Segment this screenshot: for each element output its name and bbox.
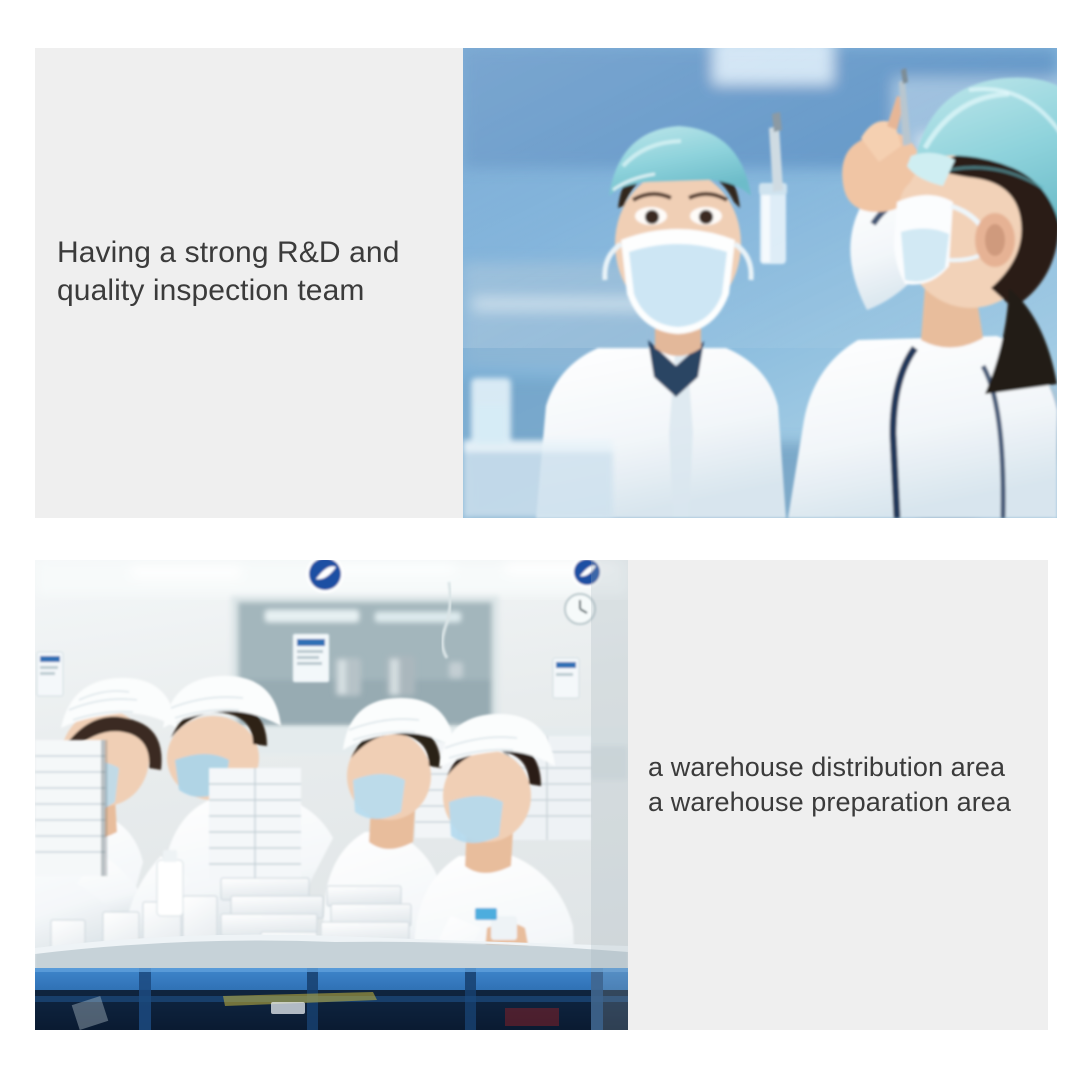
top-caption-text: Having a strong R&D and quality inspecti…: [57, 234, 457, 310]
rd-quality-inspection-lab-photo: [463, 48, 1057, 518]
warehouse-packing-area-photo: [35, 560, 628, 1030]
lab-photo-graphic: [463, 48, 1057, 518]
bottom-text-panel: a warehouse distribution area a warehous…: [628, 560, 1048, 1030]
bottom-caption-text: a warehouse distribution area a warehous…: [648, 750, 1048, 820]
top-section: Having a strong R&D and quality inspecti…: [35, 48, 1057, 518]
top-text-panel: Having a strong R&D and quality inspecti…: [35, 48, 463, 518]
warehouse-photo-graphic: [35, 560, 628, 1030]
bottom-section: a warehouse distribution area a warehous…: [35, 560, 1048, 1030]
